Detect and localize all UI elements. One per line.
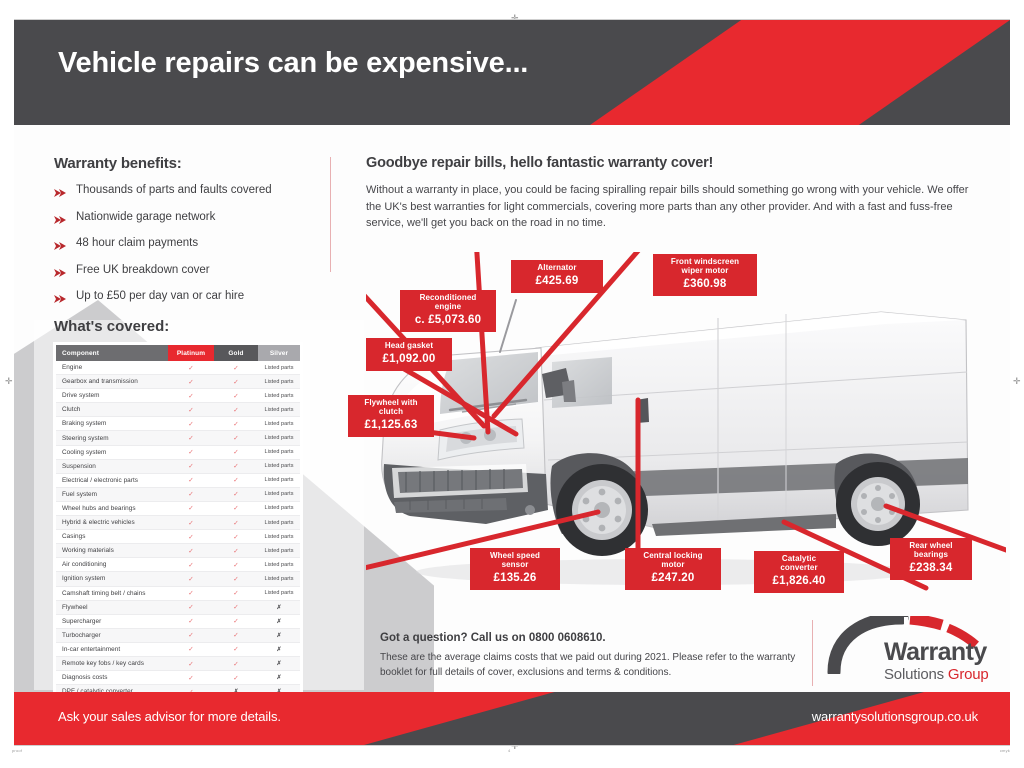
listed-parts-label: Listed parts	[264, 435, 293, 441]
callout-head-gasket: Head gasket £1,092.00	[366, 338, 452, 371]
table-row: Gearbox and transmission✓✓Listed parts	[56, 375, 300, 389]
tick-icon: ✓	[188, 576, 194, 583]
cross-icon: ✗	[276, 633, 281, 639]
cell-silver: ✗	[258, 600, 300, 614]
tick-icon: ✓	[233, 618, 239, 625]
cell-silver: Listed parts	[258, 501, 300, 515]
cell-component: Hybrid & electric vehicles	[56, 516, 168, 530]
warranty-benefits-section: Warranty benefits: Thousands of parts an…	[54, 155, 334, 316]
tick-icon: ✓	[188, 661, 194, 668]
table-row: Casings✓✓Listed parts	[56, 530, 300, 544]
cell-component: Working materials	[56, 544, 168, 558]
cell-component: Wheel hubs and bearings	[56, 501, 168, 515]
cell-gold: ✓	[214, 516, 258, 530]
benefit-label: Free UK breakdown cover	[76, 263, 210, 277]
table-row: Clutch✓✓Listed parts	[56, 403, 300, 417]
listed-parts-label: Listed parts	[264, 393, 293, 399]
cell-gold: ✓	[214, 487, 258, 501]
cross-icon: ✗	[276, 675, 281, 681]
cell-gold: ✓	[214, 389, 258, 403]
cell-silver: Listed parts	[258, 403, 300, 417]
cell-platinum: ✓	[168, 445, 214, 459]
cell-component: Cooling system	[56, 445, 168, 459]
table-row: Fuel system✓✓Listed parts	[56, 487, 300, 501]
list-item: Thousands of parts and faults covered	[54, 183, 334, 203]
header-band: Vehicle repairs can be expensive...	[14, 20, 1010, 125]
page-title: Vehicle repairs can be expensive...	[58, 47, 528, 80]
logo-subtitle: Solutions Group	[884, 666, 989, 683]
tick-icon: ✓	[188, 590, 194, 597]
table-row: Turbocharger✓✓✗	[56, 628, 300, 642]
table-row: Air conditioning✓✓Listed parts	[56, 558, 300, 572]
contact-disclaimer: These are the average claims costs that …	[380, 651, 800, 681]
table-row: Braking system✓✓Listed parts	[56, 417, 300, 431]
table-row: Camshaft timing belt / chains✓✓Listed pa…	[56, 586, 300, 600]
table-row: Steering system✓✓Listed parts	[56, 431, 300, 445]
cell-component: Ignition system	[56, 572, 168, 586]
listed-parts-label: Listed parts	[264, 365, 293, 371]
tick-icon: ✓	[233, 407, 239, 414]
tick-icon: ✓	[188, 407, 194, 414]
tick-icon: ✓	[188, 675, 194, 682]
print-mark-right: cmyk	[1000, 748, 1010, 753]
logo-word-solutions: Solutions	[884, 666, 948, 683]
cell-platinum: ✓	[168, 586, 214, 600]
cell-silver: ✗	[258, 671, 300, 685]
tick-icon: ✓	[233, 520, 239, 527]
cell-platinum: ✓	[168, 473, 214, 487]
footer-website-url[interactable]: warrantysolutionsgroup.co.uk	[812, 709, 978, 724]
cross-icon: ✗	[276, 661, 281, 667]
tick-icon: ✓	[233, 491, 239, 498]
cross-icon: ✗	[276, 619, 281, 625]
column-header-silver: Silver	[258, 345, 300, 361]
chevron-right-icon	[54, 212, 67, 230]
cell-gold: ✓	[214, 628, 258, 642]
callout-alternator: Alternator £425.69	[511, 260, 603, 293]
cell-silver: Listed parts	[258, 417, 300, 431]
tick-icon: ✓	[233, 379, 239, 386]
table-row: Diagnosis costs✓✓✗	[56, 671, 300, 685]
intro-body: Without a warranty in place, you could b…	[366, 182, 978, 232]
cell-component: Casings	[56, 530, 168, 544]
tick-icon: ✓	[233, 632, 239, 639]
table-row: Cooling system✓✓Listed parts	[56, 445, 300, 459]
tick-icon: ✓	[188, 393, 194, 400]
cell-platinum: ✓	[168, 431, 214, 445]
cell-component: Fuel system	[56, 487, 168, 501]
cell-platinum: ✓	[168, 501, 214, 515]
tick-icon: ✓	[188, 491, 194, 498]
cell-gold: ✓	[214, 586, 258, 600]
warranty-solutions-group-logo: Warranty Solutions Group	[826, 616, 1006, 692]
logo-word-warranty: Warranty	[884, 640, 989, 665]
callout-wheel-speed-sensor: Wheel speed sensor £135.26	[470, 548, 560, 590]
callout-wiper-motor: Front windscreen wiper motor £360.98	[653, 254, 757, 296]
cell-gold: ✓	[214, 614, 258, 628]
tick-icon: ✓	[188, 463, 194, 470]
cell-platinum: ✓	[168, 544, 214, 558]
cell-silver: Listed parts	[258, 375, 300, 389]
tick-icon: ✓	[233, 646, 239, 653]
cell-silver: Listed parts	[258, 516, 300, 530]
cell-component: Diagnosis costs	[56, 671, 168, 685]
cell-gold: ✓	[214, 530, 258, 544]
tick-icon: ✓	[233, 463, 239, 470]
cross-icon: ✗	[276, 605, 281, 611]
column-header-platinum: Platinum	[168, 345, 214, 361]
tick-icon: ✓	[188, 449, 194, 456]
trim-line-bottom	[14, 745, 1010, 746]
listed-parts-label: Listed parts	[264, 534, 293, 540]
cell-component: Steering system	[56, 431, 168, 445]
tick-icon: ✓	[233, 661, 239, 668]
contact-section: Got a question? Call us on 0800 0608610.…	[380, 632, 800, 681]
cell-platinum: ✓	[168, 487, 214, 501]
tick-icon: ✓	[233, 675, 239, 682]
cell-silver: ✗	[258, 628, 300, 642]
coverage-table-container: Component Platinum Gold Silver Engine✓✓L…	[53, 342, 303, 745]
cell-silver: ✗	[258, 656, 300, 670]
table-header-row: Component Platinum Gold Silver	[56, 345, 300, 361]
intro-headline: Goodbye repair bills, hello fantastic wa…	[366, 155, 978, 171]
cell-platinum: ✓	[168, 600, 214, 614]
tick-icon: ✓	[233, 449, 239, 456]
whats-covered-title: What's covered:	[54, 318, 169, 335]
tick-icon: ✓	[188, 604, 194, 611]
cell-platinum: ✓	[168, 375, 214, 389]
callout-catalytic-converter: Catalytic converter £1,826.40	[754, 551, 844, 593]
callout-rear-wheel-bearings: Rear wheel bearings £238.34	[890, 538, 972, 580]
tick-icon: ✓	[188, 548, 194, 555]
cell-component: Clutch	[56, 403, 168, 417]
tick-icon: ✓	[188, 618, 194, 625]
print-mark-left: proof	[12, 748, 22, 753]
cell-gold: ✓	[214, 417, 258, 431]
cell-platinum: ✓	[168, 572, 214, 586]
tick-icon: ✓	[233, 562, 239, 569]
tick-icon: ✓	[233, 435, 239, 442]
cell-platinum: ✓	[168, 403, 214, 417]
cell-platinum: ✓	[168, 417, 214, 431]
cell-component: Turbocharger	[56, 628, 168, 642]
listed-parts-label: Listed parts	[264, 421, 293, 427]
chevron-right-icon	[54, 291, 67, 309]
tick-icon: ✓	[188, 534, 194, 541]
cell-silver: Listed parts	[258, 389, 300, 403]
cell-component: Suspension	[56, 459, 168, 473]
footer-cta: Ask your sales advisor for more details.	[58, 709, 281, 724]
list-item: Free UK breakdown cover	[54, 263, 334, 283]
benefit-label: Thousands of parts and faults covered	[76, 183, 272, 197]
column-divider	[330, 157, 331, 272]
listed-parts-label: Listed parts	[264, 379, 293, 385]
listed-parts-label: Listed parts	[264, 520, 293, 526]
listed-parts-label: Listed parts	[264, 407, 293, 413]
benefit-label: Nationwide garage network	[76, 210, 215, 224]
tick-icon: ✓	[188, 562, 194, 569]
table-row: Suspension✓✓Listed parts	[56, 459, 300, 473]
tick-icon: ✓	[233, 505, 239, 512]
table-row: Working materials✓✓Listed parts	[56, 544, 300, 558]
cell-gold: ✓	[214, 656, 258, 670]
cell-silver: Listed parts	[258, 473, 300, 487]
benefits-title: Warranty benefits:	[54, 155, 334, 172]
tick-icon: ✓	[188, 435, 194, 442]
tick-icon: ✓	[233, 393, 239, 400]
column-header-component: Component	[56, 345, 168, 361]
benefits-list: Thousands of parts and faults covered Na…	[54, 183, 334, 309]
benefit-label: 48 hour claim payments	[76, 236, 198, 250]
cell-platinum: ✓	[168, 671, 214, 685]
listed-parts-label: Listed parts	[264, 505, 293, 511]
cell-component: Engine	[56, 361, 168, 375]
tick-icon: ✓	[233, 604, 239, 611]
listed-parts-label: Listed parts	[264, 449, 293, 455]
table-row: Electrical / electronic parts✓✓Listed pa…	[56, 473, 300, 487]
tick-icon: ✓	[188, 646, 194, 653]
cell-gold: ✓	[214, 544, 258, 558]
listed-parts-label: Listed parts	[264, 590, 293, 596]
tick-icon: ✓	[188, 520, 194, 527]
cell-gold: ✓	[214, 375, 258, 389]
tick-icon: ✓	[233, 548, 239, 555]
cell-platinum: ✓	[168, 389, 214, 403]
cell-component: Drive system	[56, 389, 168, 403]
contact-headline: Got a question? Call us on 0800 0608610.	[380, 632, 800, 644]
table-row: Drive system✓✓Listed parts	[56, 389, 300, 403]
list-item: 48 hour claim payments	[54, 236, 334, 256]
tick-icon: ✓	[233, 365, 239, 372]
tick-icon: ✓	[233, 477, 239, 484]
cell-platinum: ✓	[168, 530, 214, 544]
cell-component: Camshaft timing belt / chains	[56, 586, 168, 600]
cell-gold: ✓	[214, 445, 258, 459]
callout-central-locking-motor: Central locking motor £247.20	[625, 548, 721, 590]
cell-platinum: ✓	[168, 628, 214, 642]
infographic-page: ✛ ✛ ✛ ✛ proof 4 cmyk Vehicle repairs can…	[0, 0, 1024, 768]
listed-parts-label: Listed parts	[264, 463, 293, 469]
cell-gold: ✓	[214, 403, 258, 417]
header-red-accent	[590, 20, 1010, 125]
tick-icon: ✓	[188, 379, 194, 386]
cell-silver: Listed parts	[258, 459, 300, 473]
registration-mark-right: ✛	[1013, 377, 1021, 386]
tick-icon: ✓	[188, 365, 194, 372]
cell-gold: ✓	[214, 600, 258, 614]
cell-silver: Listed parts	[258, 445, 300, 459]
cell-component: Air conditioning	[56, 558, 168, 572]
cell-silver: ✗	[258, 614, 300, 628]
cell-platinum: ✓	[168, 656, 214, 670]
tick-icon: ✓	[188, 505, 194, 512]
benefit-label: Up to £50 per day van or car hire	[76, 289, 244, 303]
table-row: Remote key fobs / key cards✓✓✗	[56, 656, 300, 670]
cell-silver: Listed parts	[258, 487, 300, 501]
cell-gold: ✓	[214, 459, 258, 473]
cell-component: Supercharger	[56, 614, 168, 628]
table-row: Wheel hubs and bearings✓✓Listed parts	[56, 501, 300, 515]
cell-gold: ✓	[214, 671, 258, 685]
tick-icon: ✓	[188, 421, 194, 428]
tick-icon: ✓	[188, 632, 194, 639]
print-mark-center: 4	[508, 748, 510, 753]
cell-gold: ✓	[214, 572, 258, 586]
cell-silver: Listed parts	[258, 544, 300, 558]
logo-word-group: Group	[948, 666, 989, 683]
registration-mark-left: ✛	[5, 377, 13, 386]
cell-silver: Listed parts	[258, 572, 300, 586]
cell-silver: Listed parts	[258, 361, 300, 375]
table-row: Engine✓✓Listed parts	[56, 361, 300, 375]
cell-platinum: ✓	[168, 516, 214, 530]
chevron-right-icon	[54, 185, 67, 203]
listed-parts-label: Listed parts	[264, 576, 293, 582]
cross-icon: ✗	[276, 647, 281, 653]
callout-flywheel-clutch: Flywheel with clutch £1,125.63	[348, 395, 434, 437]
cell-silver: Listed parts	[258, 558, 300, 572]
table-row: Ignition system✓✓Listed parts	[56, 572, 300, 586]
artwork-canvas: Vehicle repairs can be expensive... Warr…	[14, 20, 1010, 745]
coverage-table-body: Engine✓✓Listed partsGearbox and transmis…	[56, 361, 300, 741]
list-item: Up to £50 per day van or car hire	[54, 289, 334, 309]
column-header-gold: Gold	[214, 345, 258, 361]
table-row: Supercharger✓✓✗	[56, 614, 300, 628]
listed-parts-label: Listed parts	[264, 477, 293, 483]
cell-gold: ✓	[214, 473, 258, 487]
cell-platinum: ✓	[168, 642, 214, 656]
cell-silver: ✗	[258, 642, 300, 656]
cell-silver: Listed parts	[258, 431, 300, 445]
cell-gold: ✓	[214, 431, 258, 445]
table-row: In-car entertainment✓✓✗	[56, 642, 300, 656]
footer-band: Ask your sales advisor for more details.…	[14, 692, 1010, 745]
cell-component: Flywheel	[56, 600, 168, 614]
tick-icon: ✓	[233, 590, 239, 597]
coverage-table: Component Platinum Gold Silver Engine✓✓L…	[56, 345, 300, 742]
table-row: Hybrid & electric vehicles✓✓Listed parts	[56, 516, 300, 530]
listed-parts-label: Listed parts	[264, 562, 293, 568]
cell-component: Remote key fobs / key cards	[56, 656, 168, 670]
logo-wordmark: Warranty Solutions Group	[884, 640, 989, 683]
cell-gold: ✓	[214, 642, 258, 656]
tick-icon: ✓	[233, 421, 239, 428]
cell-component: In-car entertainment	[56, 642, 168, 656]
tick-icon: ✓	[188, 477, 194, 484]
cell-platinum: ✓	[168, 614, 214, 628]
cell-platinum: ✓	[168, 361, 214, 375]
callout-reconditioned-engine: Reconditioned engine c. £5,073.60	[400, 290, 496, 332]
logo-divider	[812, 620, 813, 686]
cell-platinum: ✓	[168, 558, 214, 572]
chevron-right-icon	[54, 265, 67, 283]
listed-parts-label: Listed parts	[264, 491, 293, 497]
cell-component: Braking system	[56, 417, 168, 431]
intro-section: Goodbye repair bills, hello fantastic wa…	[366, 155, 978, 232]
cell-component: Electrical / electronic parts	[56, 473, 168, 487]
table-row: Flywheel✓✓✗	[56, 600, 300, 614]
cell-gold: ✓	[214, 361, 258, 375]
cell-component: Gearbox and transmission	[56, 375, 168, 389]
listed-parts-label: Listed parts	[264, 548, 293, 554]
chevron-right-icon	[54, 238, 67, 256]
cell-platinum: ✓	[168, 459, 214, 473]
list-item: Nationwide garage network	[54, 210, 334, 230]
tick-icon: ✓	[233, 534, 239, 541]
cell-silver: Listed parts	[258, 530, 300, 544]
tick-icon: ✓	[233, 576, 239, 583]
cell-gold: ✓	[214, 558, 258, 572]
cell-silver: Listed parts	[258, 586, 300, 600]
cell-gold: ✓	[214, 501, 258, 515]
